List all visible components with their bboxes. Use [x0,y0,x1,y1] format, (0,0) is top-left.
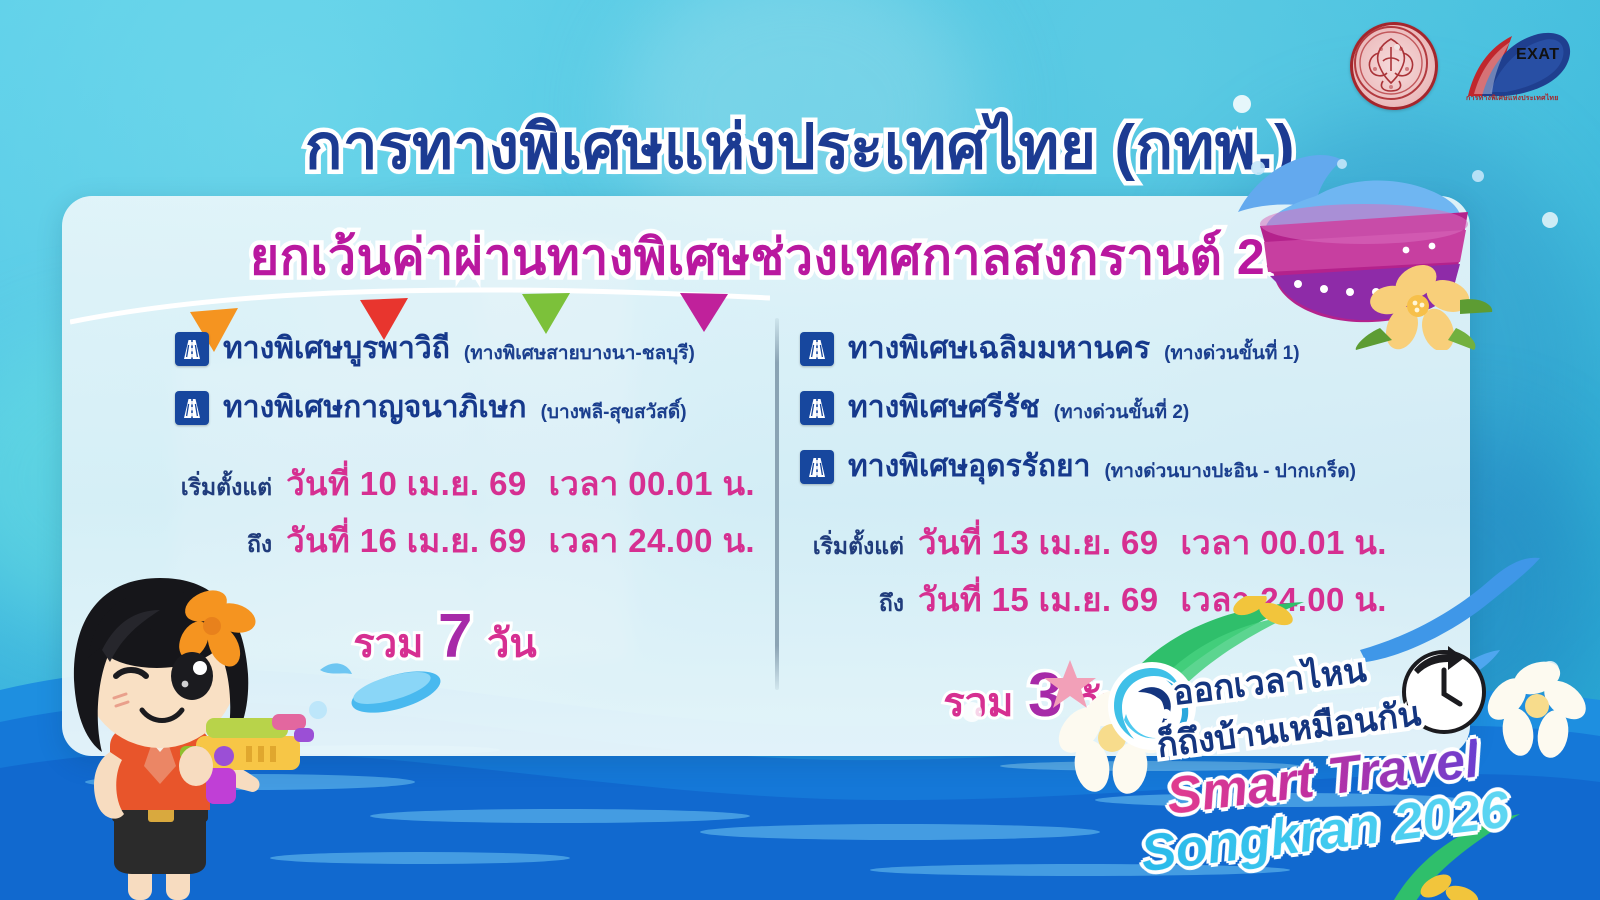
royal-garuda-seal [1350,22,1438,110]
period-to-time: เวลา 24.00 น. [1158,573,1386,626]
period-from-label: เริ่มตั้งแต่ [800,529,918,565]
expressway-icon [175,391,209,425]
expressway-icon [175,332,209,366]
route-alt-name: (บางพลี-สุขสวัสดิ์) [541,397,687,427]
route-alt-name: (ทางด่วนขั้นที่ 2) [1054,397,1189,427]
period-to-label: ถึง [800,586,918,622]
period-from-label: เริ่มตั้งแต่ [175,470,286,506]
route-alt-name: (ทางพิเศษสายบางนา-ชลบุรี) [464,338,695,368]
poster-root: การทางพิเศษแห่งประเทศไทย (กทพ.) ยกเว้นค่… [0,0,1600,900]
period-row-from: เริ่มตั้งแต่ วันที่ 10 เม.ย. 69 เวลา 00.… [175,457,755,510]
total-suffix: วัน [487,622,537,666]
total-prefix: รวม [943,681,1013,725]
period-row-to: ถึง วันที่ 15 เม.ย. 69 เวลา 24.00 น. [800,573,1420,626]
route-name: ทางพิเศษศรีรัช [848,384,1040,431]
period-block: เริ่มตั้งแต่ วันที่ 13 เม.ย. 69 เวลา 00.… [800,516,1420,626]
songkran-girl-character [10,570,320,900]
expressway-icon [800,391,834,425]
total-number: 7 [428,602,482,671]
route-item: ทางพิเศษกาญจนาภิเษก (บางพลี-สุขสวัสดิ์) [175,384,755,431]
route-name: ทางพิเศษอุดรรัถยา [848,443,1090,490]
total-prefix: รวม [353,622,423,666]
period-from-date: วันที่ 13 เม.ย. 69 [918,516,1158,569]
route-name: ทางพิเศษเฉลิมมหานคร [848,325,1150,372]
period-to-label: ถึง [175,527,286,563]
route-alt-name: (ทางด่วนบางปะอิน - ปากเกร็ด) [1104,456,1355,486]
column-divider [775,318,779,690]
period-row-from: เริ่มตั้งแต่ วันที่ 13 เม.ย. 69 เวลา 00.… [800,516,1420,569]
total-number: 3 [1018,661,1072,730]
exat-wordmark: EXAT [1516,46,1559,64]
expressway-icon [800,450,834,484]
period-from-time: เวลา 00.01 น. [527,457,755,510]
exat-logo: EXAT การทางพิเศษแห่งประเทศไทย [1460,26,1578,106]
route-item: ทางพิเศษศรีรัช (ทางด่วนขั้นที่ 2) [800,384,1420,431]
period-to-date: วันที่ 15 เม.ย. 69 [918,573,1158,626]
route-item: ทางพิเศษอุดรรัถยา (ทางด่วนบางปะอิน - ปาก… [800,443,1420,490]
period-block: เริ่มตั้งแต่ วันที่ 10 เม.ย. 69 เวลา 00.… [175,457,755,567]
period-to-date: วันที่ 16 เม.ย. 69 [286,514,526,567]
route-name: ทางพิเศษบูรพาวิถี [223,325,450,372]
period-from-date: วันที่ 10 เม.ย. 69 [286,457,526,510]
songkran-water-bowl [1220,150,1510,350]
route-item: ทางพิเศษบูรพาวิถี (ทางพิเศษสายบางนา-ชลบุ… [175,325,755,372]
period-row-to: ถึง วันที่ 16 เม.ย. 69 เวลา 24.00 น. [175,514,755,567]
logo-group: EXAT การทางพิเศษแห่งประเทศไทย [1350,22,1578,110]
exat-thai-name: การทางพิเศษแห่งประเทศไทย [1466,93,1559,104]
route-name: ทางพิเศษกาญจนาภิเษก [223,384,527,431]
smart-travel-badge: ออกเวลาไหน ก็ถึงบ้านเหมือนกัน Smart Trav… [1094,644,1564,874]
period-to-time: เวลา 24.00 น. [527,514,755,567]
period-from-time: เวลา 00.01 น. [1158,516,1386,569]
expressway-icon [800,332,834,366]
